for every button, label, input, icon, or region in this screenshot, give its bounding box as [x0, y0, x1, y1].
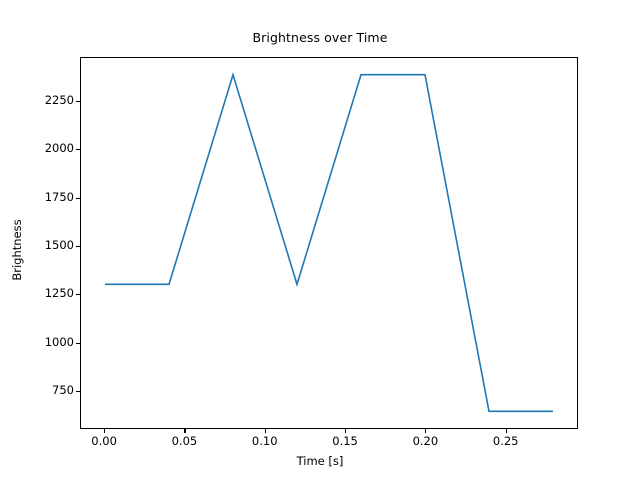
- y-tick-mark: [76, 391, 80, 392]
- y-tick-label: 2250: [0, 93, 83, 107]
- brightness-line-series: [105, 75, 553, 412]
- x-tick-label: 0.15: [332, 434, 358, 448]
- x-axis-label: Time [s]: [0, 454, 640, 468]
- y-axis-label: Brightness: [10, 140, 24, 360]
- figure-canvas: Brightness over Time 7501000125015001750…: [0, 0, 640, 480]
- line-plot-svg: [81, 58, 577, 428]
- x-tick-mark: [265, 429, 266, 433]
- x-tick-mark: [104, 429, 105, 433]
- x-tick-mark: [425, 429, 426, 433]
- x-tick-label: 0.05: [172, 434, 198, 448]
- y-tick-mark: [76, 343, 80, 344]
- x-tick-mark: [184, 429, 185, 433]
- chart-title: Brightness over Time: [0, 30, 640, 45]
- x-tick-label: 0.10: [252, 434, 278, 448]
- y-tick-mark: [76, 101, 80, 102]
- x-tick-label: 0.00: [91, 434, 117, 448]
- y-tick-mark: [76, 198, 80, 199]
- plot-axes: [80, 57, 578, 429]
- x-tick-label: 0.25: [493, 434, 519, 448]
- y-tick-mark: [76, 149, 80, 150]
- y-tick-mark: [76, 294, 80, 295]
- y-tick-mark: [76, 246, 80, 247]
- x-tick-label: 0.20: [413, 434, 439, 448]
- x-tick-mark: [506, 429, 507, 433]
- x-tick-mark: [345, 429, 346, 433]
- y-tick-label: 750: [0, 383, 83, 397]
